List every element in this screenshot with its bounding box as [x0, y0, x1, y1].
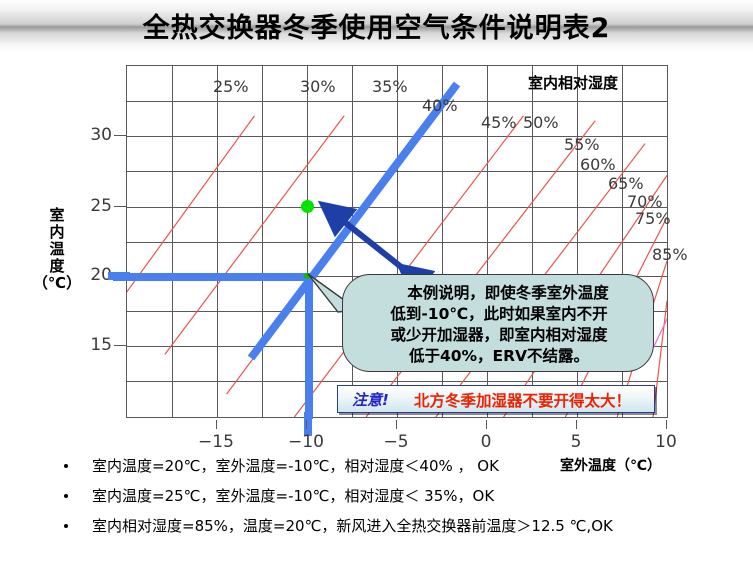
callout-text: 本例说明，即使冬季室外温度 低到-10℃，此时如果室内不开 或少开加湿器，即室内… — [343, 283, 655, 367]
callout-line-4: 低于40%，ERV不结露。 — [343, 346, 655, 367]
y-tick-label-15: 15 — [78, 335, 112, 355]
x-tick-label-10: 10 — [646, 432, 686, 452]
y-axis-title-char-2: 内 — [26, 224, 88, 241]
x-tick-mark-n5 — [396, 420, 397, 429]
psychrometric-chart: 室 内 温 度 （℃） 30 25 20 15 — [0, 52, 753, 452]
x-tick-label-0: 0 — [466, 432, 506, 452]
callout-bubble: 本例说明，即使冬季室外温度 低到-10℃，此时如果室内不开 或少开加湿器，即室内… — [342, 274, 654, 372]
y-tick-label-25: 25 — [78, 196, 112, 216]
y-tick-label-20: 20 — [78, 265, 112, 285]
rh-label-75: 75% — [635, 209, 671, 228]
title-banner: 全热交换器冬季使用空气条件说明表2 — [0, 0, 753, 52]
operating-point-marker — [301, 200, 314, 213]
x-tick-label-n5: −5 — [376, 432, 416, 452]
bullet-dot-icon — [64, 524, 68, 528]
x-tick-mark-n15 — [216, 420, 217, 429]
list-item: 室内温度=25℃，室外温度=-10℃，相对湿度＜ 35%，OK — [0, 485, 753, 515]
list-item: 室内温度=20℃，室外温度=-10℃，相对湿度＜40% ， OK — [0, 455, 753, 485]
bullet-dot-icon — [64, 464, 68, 468]
warning-note-label: 注意! — [352, 389, 389, 410]
rh-label-35: 35% — [372, 77, 408, 96]
page-title: 全热交换器冬季使用空气条件说明表2 — [0, 6, 753, 45]
rh-label-55: 55% — [564, 135, 600, 154]
callout-line-2: 低到-10℃，此时如果室内不开 — [343, 304, 655, 325]
rh-label-60: 60% — [580, 155, 616, 174]
x-tick-mark-5 — [576, 420, 577, 429]
rh-label-25: 25% — [213, 77, 249, 96]
list-item: 室内相对湿度=85%，温度=20℃，新风进入全热交换器前温度＞12.5 ℃,OK — [0, 515, 753, 545]
bullet-text-3: 室内相对湿度=85%，温度=20℃，新风进入全热交换器前温度＞12.5 ℃,OK — [92, 515, 613, 536]
bullet-list: 室内温度=20℃，室外温度=-10℃，相对湿度＜40% ， OK 室内温度=25… — [0, 455, 753, 545]
x-tick-mark-0 — [486, 420, 487, 429]
bullet-text-1: 室内温度=20℃，室外温度=-10℃，相对湿度＜40% ， OK — [92, 455, 499, 476]
bullet-text-2: 室内温度=25℃，室外温度=-10℃，相对湿度＜ 35%，OK — [92, 485, 494, 506]
rh-header-label: 室内相对湿度 — [528, 72, 618, 93]
bullet-dot-icon — [64, 494, 68, 498]
x-tick-mark-10 — [666, 420, 667, 429]
rh-label-50: 50% — [523, 113, 559, 132]
x-tick-label-5: 5 — [556, 432, 596, 452]
warning-message: 北方冬季加湿器不要开得太大！ — [414, 389, 631, 411]
indoor-temp-20-line-extension — [108, 272, 130, 280]
rh-label-30: 30% — [300, 77, 336, 96]
rh-label-85: 85% — [652, 245, 688, 264]
y-tick-label-30: 30 — [78, 125, 112, 145]
rh-label-45: 45% — [481, 113, 517, 132]
callout-line-1: 本例说明，即使冬季室外温度 — [343, 283, 655, 304]
rh-label-65: 65% — [608, 174, 644, 193]
rh-label-40: 40% — [422, 96, 458, 115]
x-tick-label-n15: −15 — [196, 432, 236, 452]
x-tick-mark-n10 — [306, 420, 307, 429]
y-axis-title-char-3: 温 — [26, 241, 88, 258]
warning-box: 注意! 北方冬季加湿器不要开得太大！ — [337, 385, 655, 413]
callout-line-3: 或少开加湿器，即室内相对湿度 — [343, 325, 655, 346]
x-tick-label-n10: −10 — [286, 432, 326, 452]
